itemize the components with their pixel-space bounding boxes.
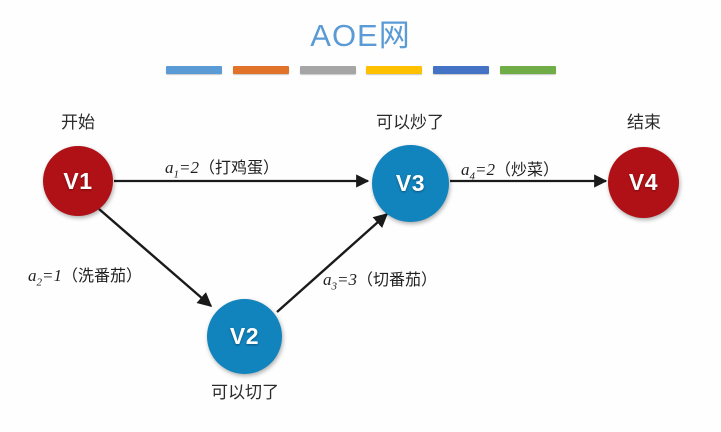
edge-a2-arrow [99,209,211,306]
node-v1[interactable]: V1 [43,146,113,216]
node-v4[interactable]: V4 [608,147,679,218]
edge-a1-var: a1 [165,158,179,177]
node-v1-caption: 开始 [28,108,128,133]
edge-label-a2: a2=1（洗番茄） [28,262,142,288]
node-v1-label: V1 [63,168,92,195]
edge-a3-arrow [277,214,387,312]
diagram-canvas: AOE网 开始 V1 V2 可以切了 可以炒了 [0,0,721,432]
edge-a2-var: a2 [28,266,42,285]
edge-a1-activity: （打鸡蛋） [199,160,279,177]
edge-a2-activity: （洗番茄） [62,268,142,285]
edge-a1-weight: =2 [179,158,199,177]
node-v2[interactable]: V2 [207,299,282,374]
node-v3-label: V3 [396,170,425,197]
edge-a4-weight: =2 [475,160,495,179]
edge-label-a1: a1=2（打鸡蛋） [165,154,279,180]
node-v4-label: V4 [629,169,658,196]
node-v3-caption: 可以炒了 [350,108,470,133]
node-v2-label: V2 [230,323,259,350]
node-v4-caption: 结束 [594,108,694,133]
node-v3[interactable]: V3 [372,145,449,222]
graph-edges-layer [0,0,721,432]
edge-a4-var: a4 [461,160,475,179]
node-v2-caption: 可以切了 [185,378,305,403]
edge-a3-activity: （切番茄） [357,272,437,289]
edge-a3-weight: =3 [337,270,357,289]
edge-label-a3: a3=3（切番茄） [323,266,437,292]
edge-label-a4: a4=2（炒菜） [461,156,559,182]
edge-a3-var: a3 [323,270,337,289]
edge-a4-activity: （炒菜） [495,162,559,179]
edge-a2-weight: =1 [42,266,62,285]
